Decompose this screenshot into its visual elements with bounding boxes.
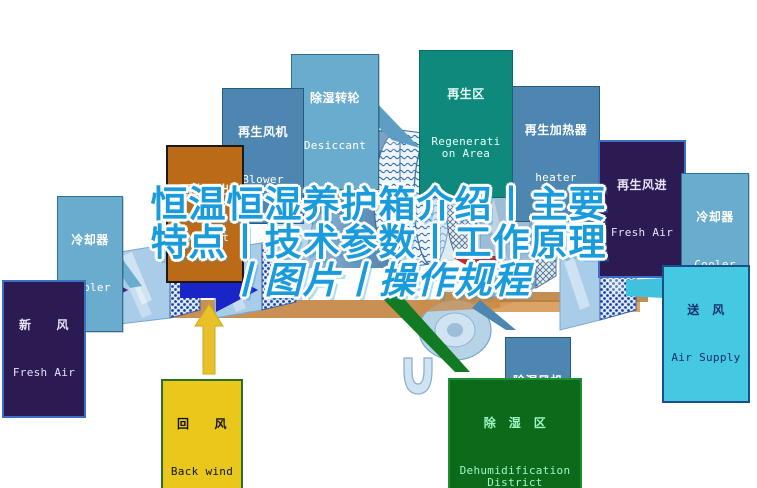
label-desiccant: 除湿转轮 Desiccant (291, 54, 379, 190)
label-dehumidification-district: 除 湿 区 Dehumidification District (448, 378, 582, 488)
label-air-supply-cn: 送 风 (668, 304, 744, 317)
label-fresh-air-left: 新 风 Fresh Air (2, 280, 86, 418)
label-air-supply-en: Air Supply (668, 352, 744, 364)
dehumidification-blower (419, 296, 500, 360)
label-back-wind: 回 风 Back wind (161, 379, 243, 488)
drain-elbow (404, 358, 432, 394)
label-cooler-right-cn: 冷却器 (686, 211, 744, 224)
label-dehumidification-district-cn: 除 湿 区 (454, 417, 576, 430)
label-regeneration-area-en: Regenerati on Area (424, 136, 508, 160)
label-back-wind-en: Back wind (167, 466, 237, 478)
label-exhaust-en: Exhaust (172, 232, 238, 244)
label-back-wind-cn: 回 风 (167, 418, 237, 431)
diagram-canvas: 除湿转轮 Desiccant 再生风机 Blower 再生区 Regenerat… (0, 0, 757, 488)
label-regen-heater: 再生加热器 heater (512, 86, 600, 222)
label-desiccant-en: Desiccant (296, 140, 374, 152)
label-desiccant-cn: 除湿转轮 (296, 92, 374, 105)
label-regeneration-area: 再生区 Regenerati on Area (419, 50, 513, 198)
label-fresh-air-left-en: Fresh Air (8, 367, 80, 379)
label-regen-blower-cn: 再生风机 (227, 126, 299, 139)
label-regen-fresh-air-en: Fresh Air (604, 227, 680, 239)
label-fresh-air-left-cn: 新 风 (8, 319, 80, 332)
label-regen-fresh-air-cn: 再生风进 (604, 179, 680, 192)
label-exhaust-cn: 再生风出 (172, 184, 238, 197)
label-regen-fresh-air: 再生风进 Fresh Air (598, 140, 686, 278)
label-dehumidification-district-en: Dehumidification District (454, 465, 576, 488)
label-regeneration-area-cn: 再生区 (424, 88, 508, 101)
label-cooler-left-cn: 冷却器 (62, 234, 118, 247)
label-regen-heater-cn: 再生加热器 (517, 124, 595, 137)
label-regen-heater-en: heater (517, 172, 595, 184)
label-exhaust: 再生风出 Exhaust (166, 145, 244, 283)
label-air-supply: 送 风 Air Supply (662, 265, 750, 403)
lower-left-duct (300, 243, 350, 320)
